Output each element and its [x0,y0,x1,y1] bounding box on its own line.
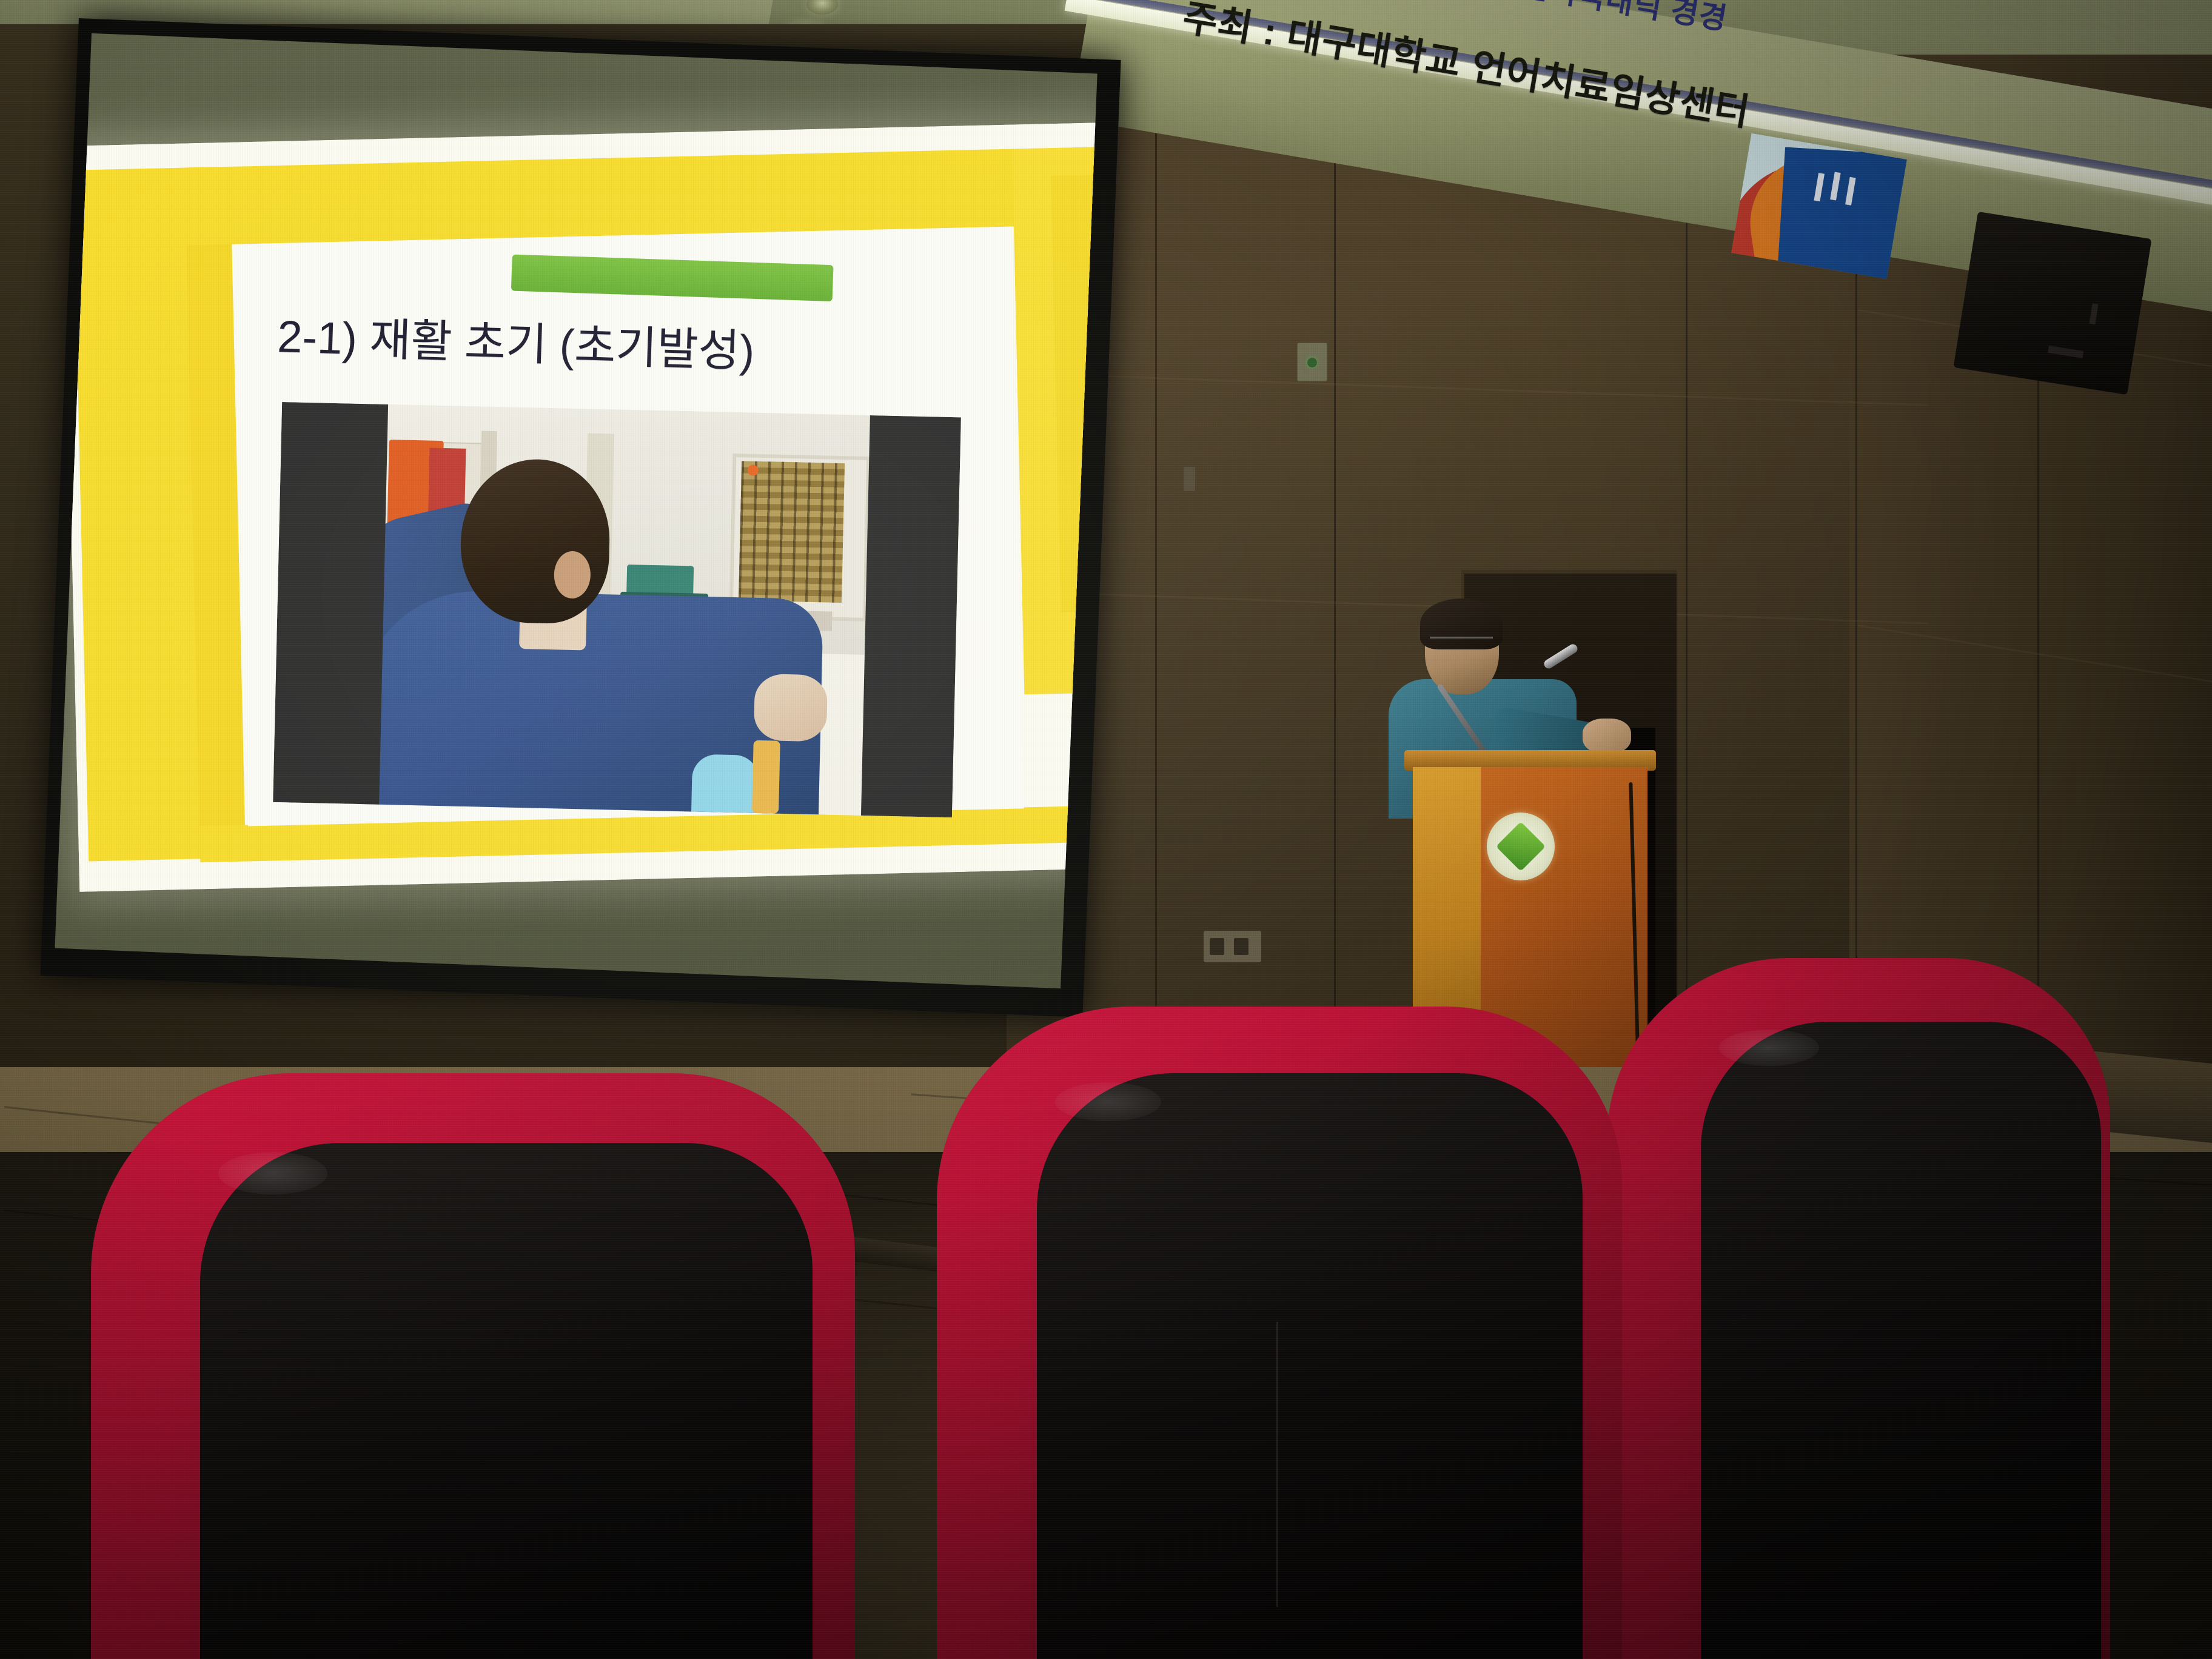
projected-slide: 2-1) 재활 초기 (초기발성) [63,122,1098,892]
banner-ribbon-graphic [1731,133,1907,280]
seat-highlight [1055,1082,1161,1121]
seat-rear-panel [1037,1073,1583,1659]
presenter-hand [1583,719,1631,754]
glasses-icon [1430,637,1493,649]
light-switch-icon[interactable] [1184,467,1195,491]
list-item[interactable] [91,1073,855,1659]
list-item[interactable] [1607,958,2110,1659]
university-crest-emblem-icon [1487,813,1555,880]
wall-speaker-icon [1953,212,2151,395]
list-item[interactable] [937,1007,1622,1659]
seat-rear-panel [1701,1022,2101,1659]
wall-panel-seam [1334,91,1336,1110]
seat-highlight [1719,1030,1819,1066]
wall-jack-plate-icon [1204,931,1261,962]
wall-sensor-icon [1297,343,1327,381]
screen-surface: 2-1) 재활 초기 (초기발성) [55,33,1097,988]
projection-screen: 2-1) 재활 초기 (초기발성) [40,18,1145,1030]
lecture-hall-photo: 장소 : 세월빅딕내딕 경경 주최 : 대구대학교 언어치료임상센터 [0,0,2212,1659]
slide-photo [273,402,961,817]
seat-rear-panel [200,1143,813,1659]
wall-panel-seam [1155,97,1157,1091]
seat-highlight [218,1152,327,1195]
seat-stitch [1276,1322,1278,1607]
